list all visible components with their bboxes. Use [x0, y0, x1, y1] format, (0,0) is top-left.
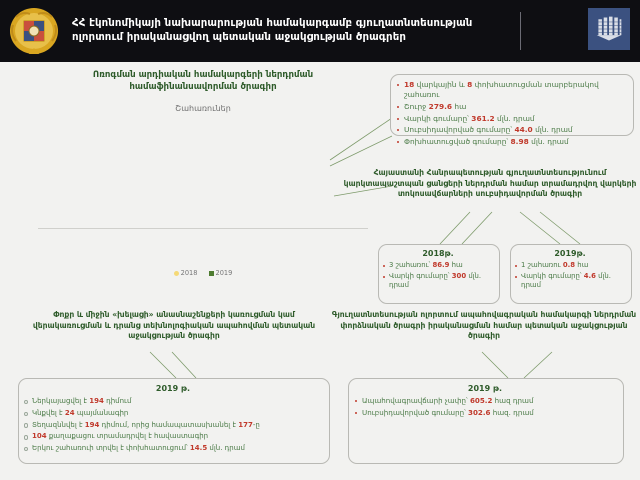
bullet-text: 1 շահառու — [521, 261, 563, 269]
irrigation-stats-box: 18 վարկային և 8 փոխհատուցման տարբերակով … — [390, 74, 634, 136]
bullet-text: Սուբսիդավորված գումարը՝ — [404, 125, 514, 134]
highlight-value: 194 — [89, 397, 104, 405]
bullet-text: Վարկի գումարը՝ — [389, 272, 452, 280]
hail-net-2019-title: 2019թ. — [513, 249, 627, 258]
list-item: Փոխհատուցված գումարը՝ 8.98 մլն. դրամ — [395, 137, 627, 147]
highlight-value: 0.8 — [563, 261, 575, 269]
chart-legend: 2018 2019 — [38, 269, 368, 277]
highlight-value: 8.98 — [511, 137, 529, 146]
insurance-2019-box: 2019 թ. Ապահովագրավճարի չափը՝ 605.2 հազ … — [348, 378, 624, 464]
bullet-text: պայմանագիր — [75, 409, 129, 417]
chart-title: Ոռոգման արդիական համակարգերի ներդրման հա… — [38, 70, 368, 93]
list-item: Վարկի գումարը՝ 4.6 մլն. դրամ — [513, 272, 627, 291]
highlight-value: 302.6 — [468, 408, 490, 417]
highlight-value: 177 — [238, 421, 253, 429]
bullet-text: Ապահովագրավճարի չափը՝ — [362, 396, 470, 405]
legend-label-2018: 2018 — [181, 269, 198, 277]
bullet-text: Վարկի գումարը՝ — [404, 114, 471, 123]
highlight-value: 300 — [452, 272, 466, 280]
list-item: 18 վարկային և 8 փոխհատուցման տարբերակով … — [395, 80, 627, 101]
highlight-value: 4.6 — [584, 272, 596, 280]
bullet-text: հազ. դրամ — [490, 408, 533, 417]
armenia-coat-of-arms-icon — [8, 5, 60, 57]
bullet-text: հազ դրամ — [492, 396, 533, 405]
list-item: Ներկայացվել է 194 դիմում — [23, 396, 323, 407]
bullet-text: Փոխհատուցված գումարը՝ — [404, 137, 511, 146]
highlight-value: 86.9 — [432, 261, 449, 269]
list-item: Սուբսիդավորված գումարը՝ 302.6 հազ. դրամ — [353, 408, 617, 419]
legend-item-2019: 2019 — [209, 269, 233, 277]
list-item: Շուրջ 279.6 հա — [395, 102, 627, 112]
legend-item-2018: 2018 — [174, 269, 198, 277]
ministry-building-icon — [588, 8, 630, 50]
legend-swatch-2018 — [174, 271, 179, 276]
bullet-text: մլն. դրամ — [495, 114, 535, 123]
bullet-text: մլն. դրամ — [207, 444, 245, 452]
bullet-text: քաղաքացու տրամադրվել է հավաստագիր — [47, 432, 208, 440]
smart-barn-program-heading: Փոքր և միջին «խելացի» անասնաշենքերի կառո… — [18, 310, 330, 342]
list-item: Տեղազննվել է 194 դիմում, որից համապատասխ… — [23, 420, 323, 431]
list-item: Վարկի գումարը՝ 361.2 մլն. դրամ — [395, 114, 627, 124]
chart-plot-area — [38, 117, 368, 229]
bullet-text: վարկային և — [414, 80, 467, 89]
smart-barn-2019-box: 2019 թ. Ներկայացվել է 194 դիմումԿնքվել է… — [18, 378, 330, 464]
header-divider — [520, 12, 521, 50]
smart-barn-2019-title: 2019 թ. — [23, 384, 323, 393]
irrigation-program-chart: Ոռոգման արդիական համակարգերի ներդրման հա… — [38, 70, 368, 270]
highlight-value: 104 — [32, 432, 47, 440]
bullet-text: մլն. դրամ — [533, 125, 573, 134]
highlight-value: 361.2 — [471, 114, 494, 123]
bullet-text: Սուբսիդավորված գումարը՝ — [362, 408, 468, 417]
list-item: Կնքվել է 24 պայմանագիր — [23, 408, 323, 419]
bullet-text: Երկու շահառուի տրվել է փոխհատուցում՝ — [32, 444, 190, 452]
bullet-text: հա — [452, 102, 466, 111]
chart-trend-line — [38, 117, 368, 229]
bullet-text: դիմում — [104, 397, 132, 405]
bullet-text: հա — [449, 261, 462, 269]
highlight-value: 24 — [65, 409, 75, 417]
hail-net-2018-title: 2018թ. — [381, 249, 495, 258]
bullet-text: 3 շահառու՝ — [389, 261, 432, 269]
bullet-text: -ը — [253, 421, 260, 429]
page-header: ՀՀ էկոնոմիկայի նախարարության համակարգամբ… — [0, 0, 640, 62]
chart-x-tick-labels — [38, 229, 368, 271]
hail-net-2018-list: 3 շահառու՝ 86.9 հաՎարկի գումարը՝ 300 մլն… — [381, 261, 495, 290]
bullet-text: Շուրջ — [404, 102, 429, 111]
list-item: Ապահովագրավճարի չափը՝ 605.2 հազ դրամ — [353, 396, 617, 407]
page-title: ՀՀ էկոնոմիկայի նախարարության համակարգամբ… — [72, 17, 502, 45]
list-item: 1 շահառու 0.8 հա — [513, 261, 627, 270]
bullet-text: մլն. դրամ — [529, 137, 569, 146]
list-item: Երկու շահառուի տրվել է փոխհատուցում՝ 14.… — [23, 443, 323, 454]
hail-net-program-heading: Հայաստանի Հանրապետության գյուղատնտեսությ… — [342, 168, 638, 200]
list-item: 104 քաղաքացու տրամադրվել է հավաստագիր — [23, 431, 323, 442]
insurance-program-heading: Գյուղատնտեսության ոլորտում ապահովագրական… — [330, 310, 638, 342]
smart-barn-2019-list: Ներկայացվել է 194 դիմումԿնքվել է 24 պայմ… — [23, 396, 323, 454]
highlight-value: 18 — [404, 80, 414, 89]
highlight-value: 605.2 — [470, 396, 492, 405]
highlight-value: 194 — [85, 421, 100, 429]
hail-net-2019-box: 2019թ. 1 շահառու 0.8 հաՎարկի գումարը՝ 4.… — [510, 244, 632, 304]
bullet-text: Կնքվել է — [32, 409, 65, 417]
list-item: Վարկի գումարը՝ 300 մլն. դրամ — [381, 272, 495, 291]
bullet-text: դիմում, որից համապատասխանել է — [99, 421, 238, 429]
legend-swatch-2019 — [209, 271, 214, 276]
insurance-2019-title: 2019 թ. — [353, 384, 617, 393]
bullet-text: Վարկի գումարը՝ — [521, 272, 584, 280]
bullet-text: հա — [575, 261, 588, 269]
irrigation-stats-list: 18 վարկային և 8 փոխհատուցման տարբերակով … — [395, 80, 627, 147]
highlight-value: 14.5 — [190, 444, 207, 452]
hail-net-2018-box: 2018թ. 3 շահառու՝ 86.9 հաՎարկի գումարը՝ … — [378, 244, 500, 304]
list-item: 3 շահառու՝ 86.9 հա — [381, 261, 495, 270]
bullet-text: Տեղազննվել է — [32, 421, 85, 429]
list-item: Սուբսիդավորված գումարը՝ 44.0 մլն. դրամ — [395, 125, 627, 135]
bullet-text: Ներկայացվել է — [32, 397, 89, 405]
chart-subtitle: Շահառուներ — [38, 104, 368, 113]
hail-net-2019-list: 1 շահառու 0.8 հաՎարկի գումարը՝ 4.6 մլն. … — [513, 261, 627, 290]
insurance-2019-list: Ապահովագրավճարի չափը՝ 605.2 հազ դրամՍուբ… — [353, 396, 617, 418]
legend-label-2019: 2019 — [216, 269, 233, 277]
highlight-value: 279.6 — [429, 102, 452, 111]
highlight-value: 44.0 — [514, 125, 532, 134]
